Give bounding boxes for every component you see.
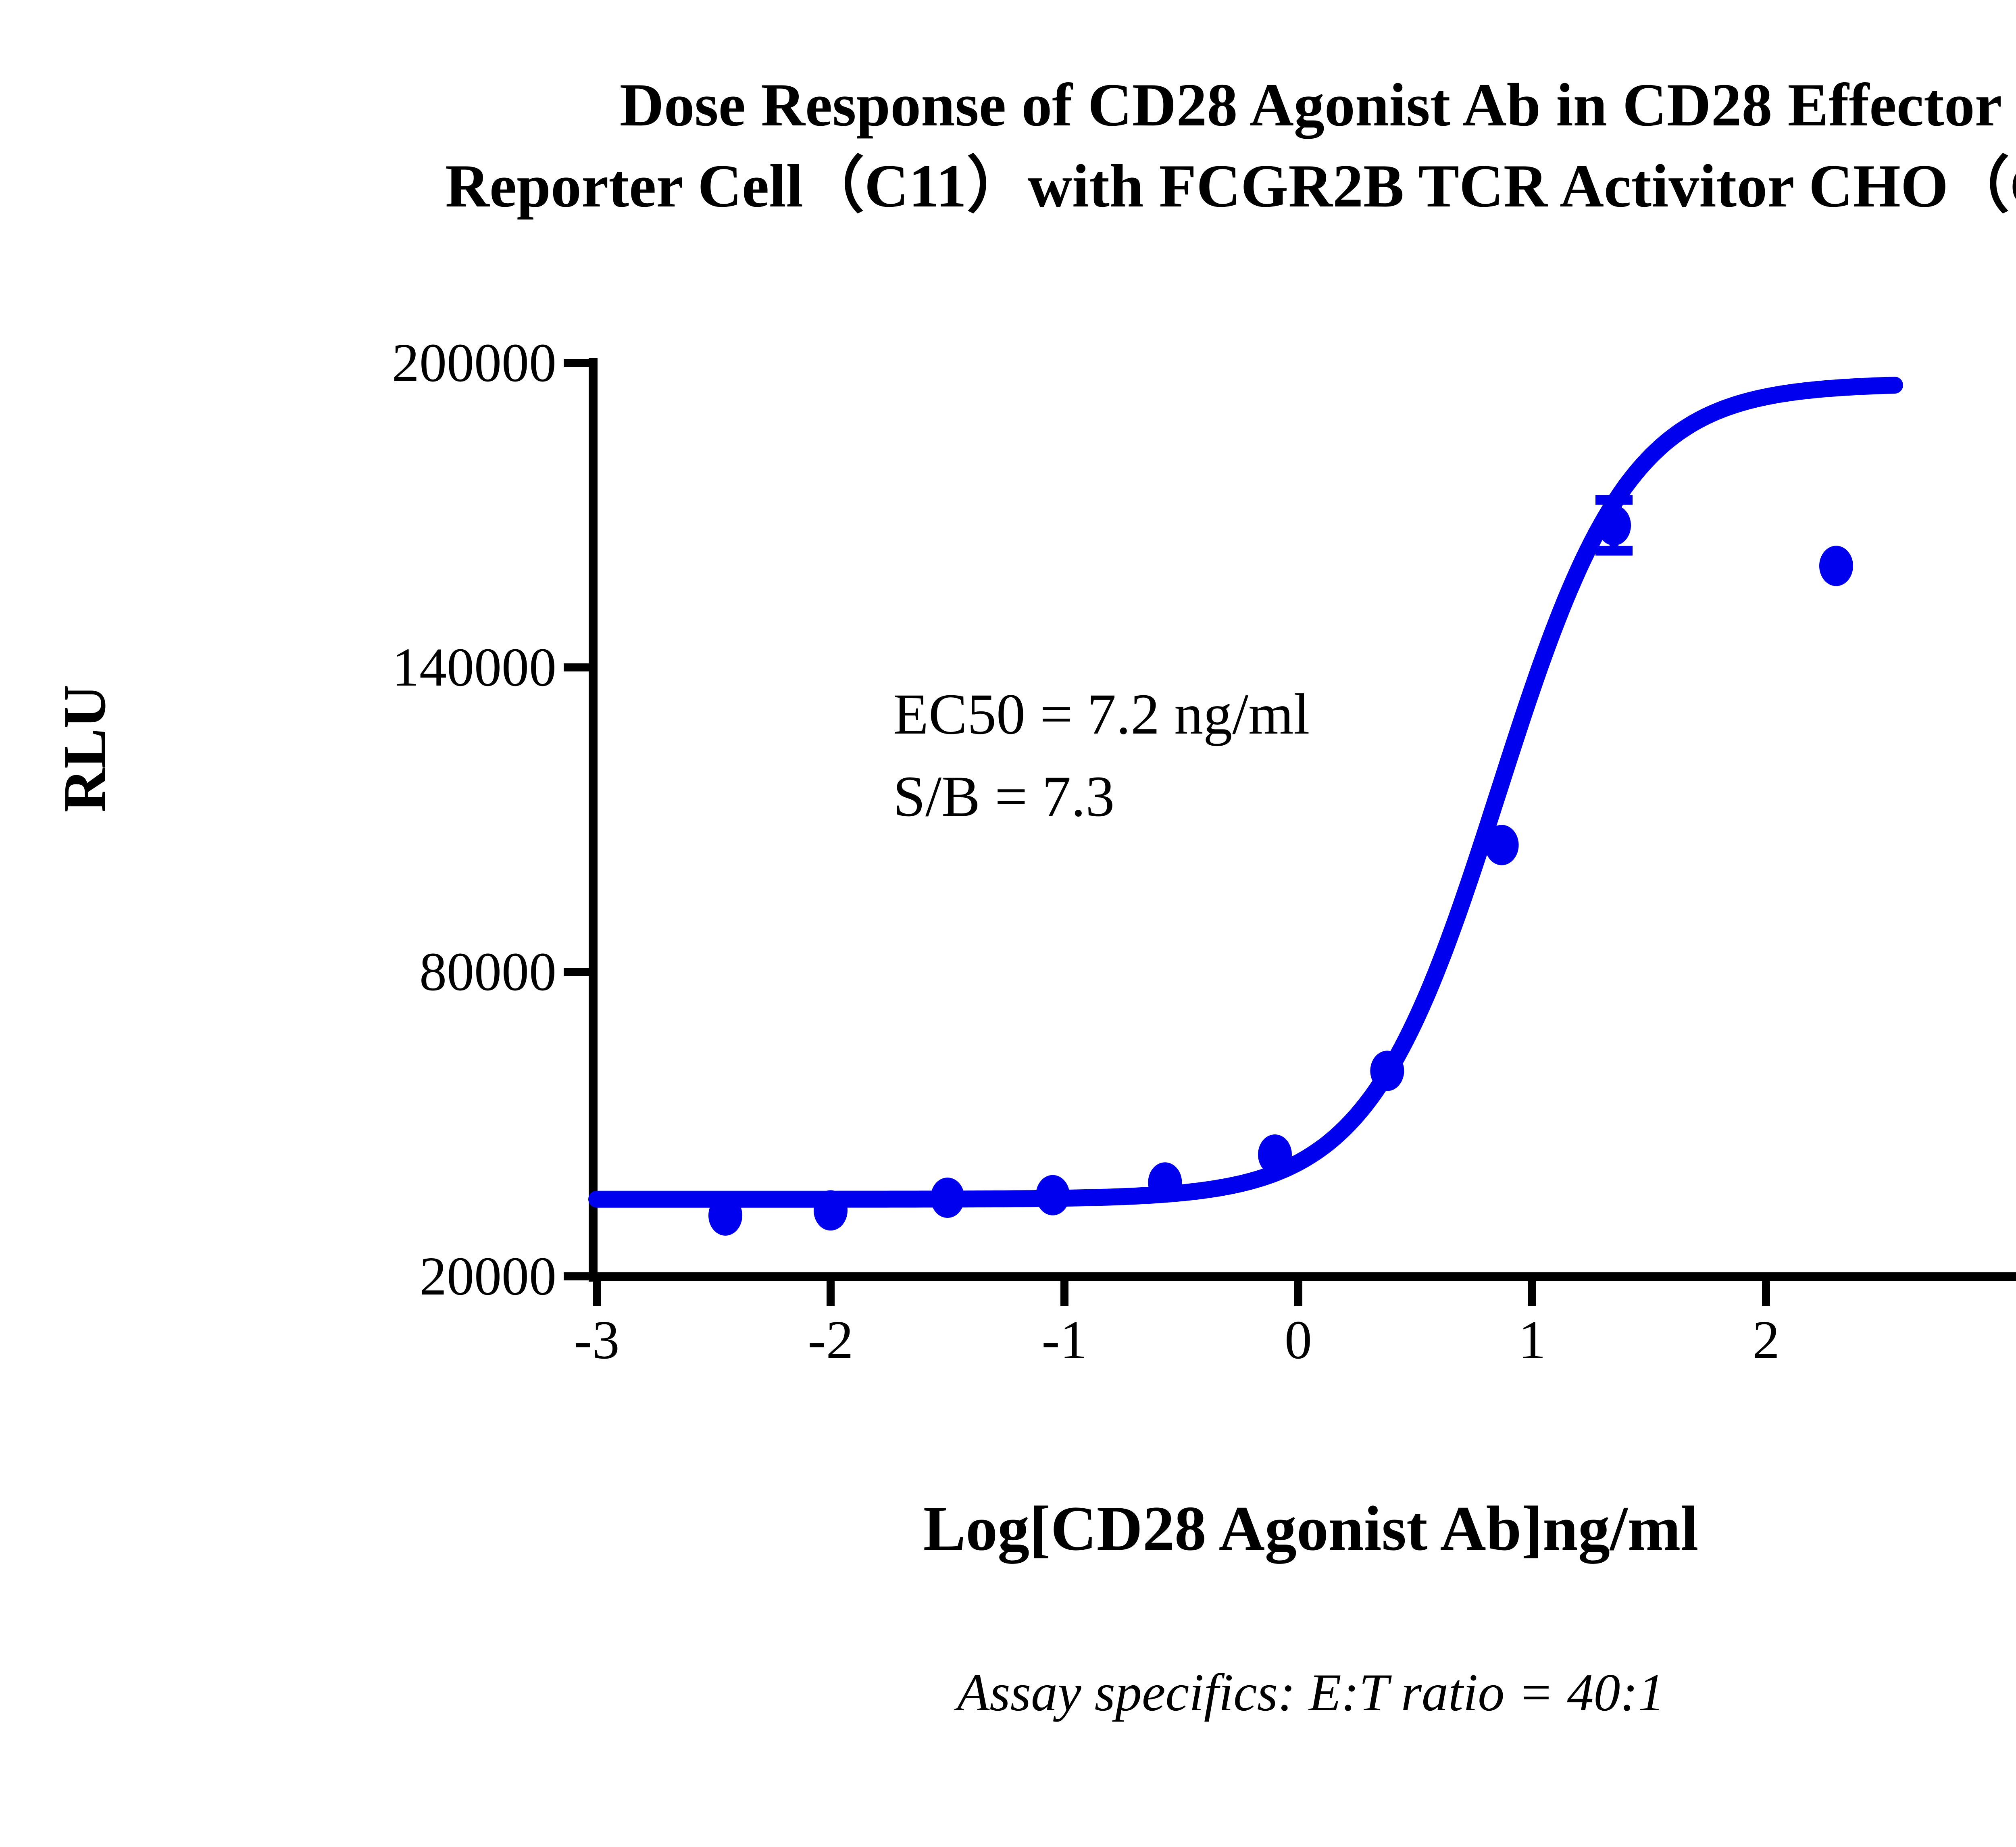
y-tick-label-140000: 140000 (282, 640, 556, 695)
figure-caption: Assay specifics: E:T ratio = 40:1 (0, 1661, 2016, 1723)
chart-title-line-2: Reporter Cell（C11）with FCGR2B TCR Activi… (0, 146, 2016, 227)
annotation-ec50: EC50 = 7.2 ng/ml (893, 673, 1310, 756)
x-tick-mark--3 (593, 1280, 601, 1306)
data-point-marker (814, 1190, 848, 1230)
chart-title-line-1: Dose Response of CD28 Agonist Ab in CD28… (0, 65, 2016, 146)
y-tick-mark-20000 (564, 1272, 590, 1280)
plot-data-layer (0, 0, 2016, 1847)
x-tick-label-2: 2 (1706, 1313, 1826, 1368)
x-tick-mark--1 (1060, 1280, 1068, 1306)
data-point-markers (708, 505, 1853, 1236)
x-axis-line (589, 1272, 2016, 1281)
error-bars (1595, 500, 1633, 551)
chart-figure: Dose Response of CD28 Agonist Ab in CD28… (0, 0, 2016, 1847)
data-point-marker (1819, 546, 1853, 586)
x-axis-title: Log[CD28 Agonist Ab]ng/ml (0, 1492, 2016, 1566)
x-tick-label-0: 0 (1238, 1313, 1359, 1368)
y-axis-line (589, 358, 598, 1282)
data-point-marker (1258, 1134, 1292, 1175)
y-tick-mark-200000 (564, 359, 590, 367)
data-point-marker (1148, 1162, 1182, 1203)
y-tick-mark-80000 (564, 968, 590, 976)
data-point-marker (1036, 1175, 1070, 1215)
y-tick-label-80000: 80000 (282, 944, 556, 999)
data-point-marker (1485, 825, 1519, 865)
data-point-marker (1597, 505, 1631, 546)
x-tick-mark-0 (1294, 1280, 1302, 1306)
annotation-sb: S/B = 7.3 (893, 756, 1310, 838)
x-tick-label--3: -3 (536, 1313, 657, 1368)
x-tick-label--1: -1 (1004, 1313, 1125, 1368)
x-tick-mark-2 (1762, 1280, 1770, 1306)
data-point-marker (708, 1195, 742, 1236)
y-tick-mark-140000 (564, 663, 590, 671)
y-tick-label-200000: 200000 (282, 336, 556, 390)
chart-title: Dose Response of CD28 Agonist Ab in CD28… (0, 65, 2016, 226)
x-tick-label--2: -2 (770, 1313, 891, 1368)
data-point-marker (1370, 1051, 1404, 1091)
data-point-marker (931, 1178, 964, 1218)
x-tick-mark-1 (1528, 1280, 1536, 1306)
y-axis-title: RLU (50, 607, 119, 890)
y-tick-label-20000: 20000 (282, 1249, 556, 1304)
annotation-block: EC50 = 7.2 ng/ml S/B = 7.3 (893, 673, 1310, 838)
x-tick-mark--2 (827, 1280, 835, 1306)
x-tick-label-1: 1 (1472, 1313, 1593, 1368)
